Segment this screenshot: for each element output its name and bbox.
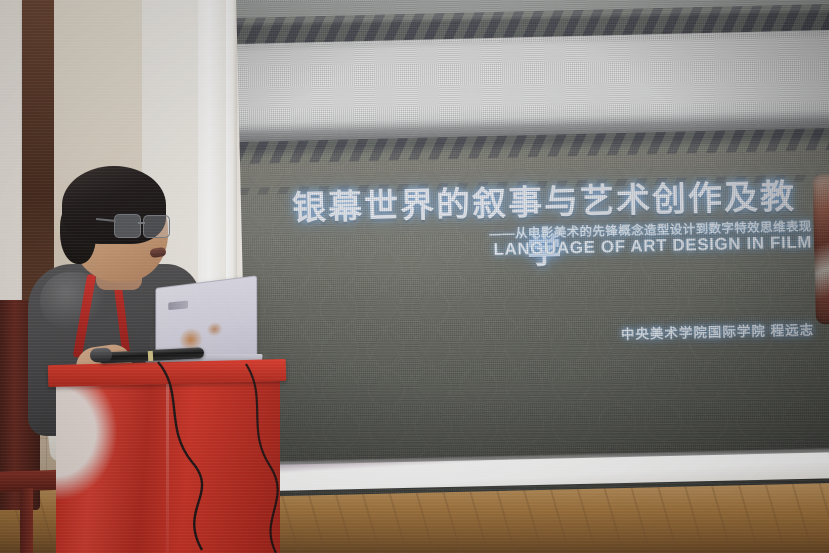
eyeglass-lens [114,214,141,238]
laptop-decal [207,322,223,337]
laptop-decal [168,301,188,311]
eyeglass-lens [143,215,170,238]
presenter-mouth [149,247,166,258]
projection-screen: 银幕世界的叙事与艺术创作及教学 ——从电影美术的先锋概念造型设计到数字特效思维表… [236,0,829,497]
eyeglasses-icon [114,214,170,237]
podium-highlight [56,380,126,510]
microphone-band [148,351,154,361]
eyeglass-bridge [138,222,145,224]
photograph-scene: 银幕世界的叙事与艺术创作及教学 ——从电影美术的先锋概念造型设计到数字特效思维表… [0,0,829,553]
microphone-head [90,347,113,362]
led-pixel-grid [236,0,829,497]
podium [48,362,286,553]
podium-edge [166,380,169,553]
